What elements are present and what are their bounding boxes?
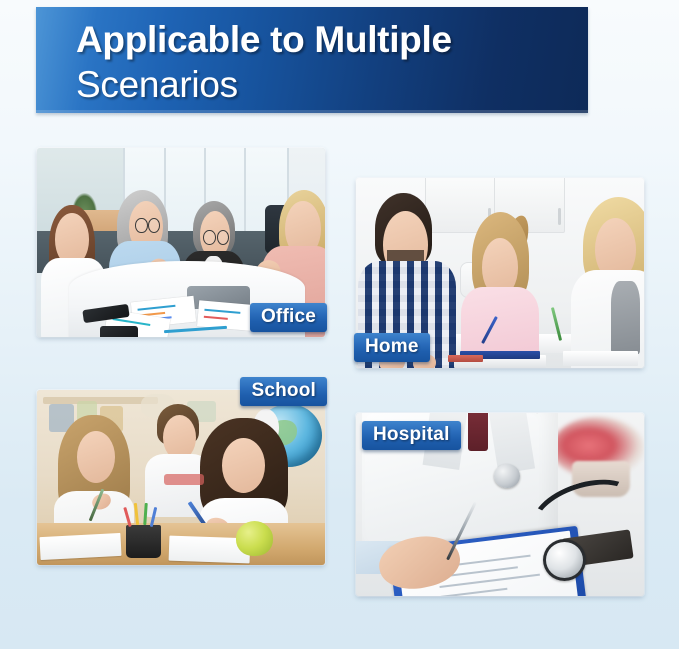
scenario-label-home: Home [354, 333, 430, 362]
photo-school [37, 390, 325, 565]
glasses-icon [203, 230, 215, 245]
head [77, 431, 115, 483]
scenario-card-office: Office [37, 148, 325, 337]
home-notebook [563, 351, 638, 366]
office-smartphone [100, 326, 137, 337]
chart-bar [138, 305, 176, 311]
school-marker [164, 474, 204, 485]
school-pencil [143, 503, 148, 525]
banner-title-line1: Applicable to Multiple [76, 19, 452, 61]
form-line [441, 589, 507, 596]
photo-frame-school [37, 390, 325, 565]
home-book [448, 355, 483, 363]
scenario-label-office: Office [250, 303, 327, 332]
header-banner: Applicable to Multiple Scenarios [36, 7, 588, 113]
chart-bar [113, 318, 151, 326]
form-line [440, 574, 541, 588]
school-pencil-cup [126, 525, 161, 558]
scenario-card-school: School [37, 390, 325, 565]
stethoscope-chestpiece-icon [494, 464, 520, 488]
scenario-label-hospital: Hospital [362, 421, 461, 450]
chart-bar [204, 316, 228, 320]
home-person-mother [558, 197, 644, 368]
home-person-girl [460, 212, 546, 368]
scenario-card-hospital: Hospital [356, 413, 644, 596]
school-apple [236, 521, 273, 556]
scenario-card-home: Home [356, 178, 644, 368]
school-notebook [39, 533, 121, 560]
top [611, 281, 640, 354]
scenario-label-school: School [240, 377, 327, 406]
chart-bar [205, 309, 241, 314]
head [222, 438, 265, 493]
glasses-icon [135, 218, 147, 233]
banner-title-line2: Scenarios [76, 64, 238, 106]
